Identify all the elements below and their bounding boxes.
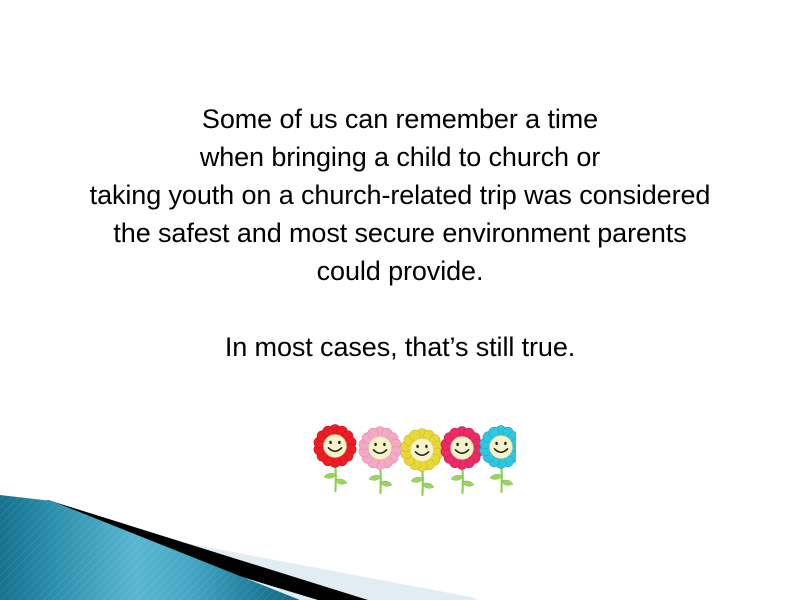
body-line: In most cases, that’s still true.: [0, 328, 800, 366]
paragraph-two: In most cases, that’s still true.: [0, 328, 800, 366]
body-line: the safest and most secure environment p…: [0, 214, 800, 252]
red-flower: [314, 425, 356, 491]
yellow-flower: [401, 429, 443, 495]
pale-blue-band: [0, 512, 478, 600]
presentation-slide: Some of us can remember a time when brin…: [0, 0, 800, 600]
body-line: could provide.: [0, 252, 800, 290]
crimson-flower: [441, 427, 483, 493]
body-line: Some of us can remember a time: [0, 100, 800, 138]
paragraph-one: Some of us can remember a time when brin…: [0, 100, 800, 290]
body-line: when bringing a child to church or: [0, 138, 800, 176]
teal-gradient-triangle: [0, 495, 300, 600]
paragraph-spacer: [0, 290, 800, 328]
black-diagonal-stripe: [24, 500, 368, 600]
pale-blue-band-upper: [0, 508, 476, 600]
slide-body-text: Some of us can remember a time when brin…: [0, 100, 800, 366]
five-smiling-flowers-clipart: [312, 424, 516, 502]
cyan-flower: [480, 426, 516, 492]
body-line: taking youth on a church-related trip wa…: [0, 176, 800, 214]
bottom-left-diagonal-bands: [0, 490, 800, 600]
pink-flower: [359, 427, 401, 493]
